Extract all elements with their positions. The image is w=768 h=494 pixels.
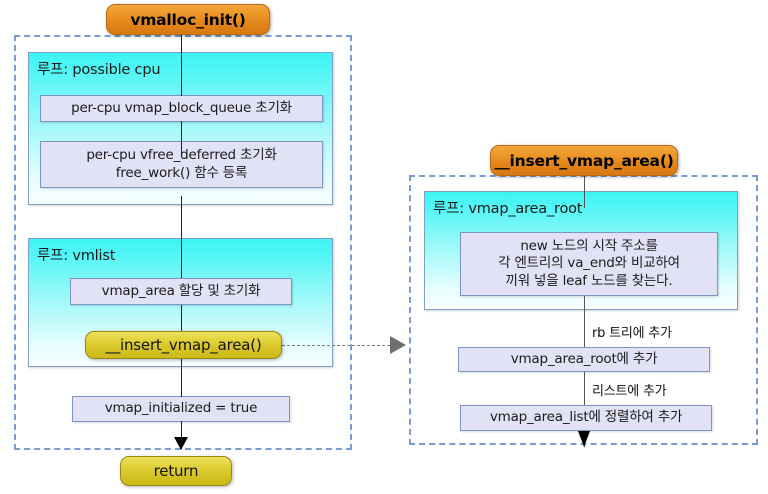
step-vmap-block-queue-init[interactable]: per-cpu vmap_block_queue 초기화 <box>40 95 323 122</box>
left-spine-2 <box>181 121 182 154</box>
step-label: vmap_area_list에 정렬하여 추가 <box>490 409 682 427</box>
right-spine-1 <box>584 176 585 208</box>
left-spine-5 <box>181 357 182 397</box>
step-add-to-vmap-area-root[interactable]: vmap_area_root에 추가 <box>458 347 710 372</box>
loop-vmlist-label: 루프: vmlist <box>37 244 115 265</box>
diagram-canvas: vmalloc_init() 루프: possible cpu per-cpu … <box>0 0 768 494</box>
step-find-leaf-node[interactable]: new 노드의 시작 주소를 각 엔트리의 va_end와 비교하여 끼워 넣을… <box>460 232 718 296</box>
left-spine-arrowhead <box>174 437 188 450</box>
step-vmap-initialized-true[interactable]: vmap_initialized = true <box>72 396 290 422</box>
step-label-line3: 끼워 넣을 leaf 노드를 찾는다. <box>506 273 673 291</box>
step-vmap-area-alloc-init[interactable]: vmap_area 할당 및 초기화 <box>70 278 292 305</box>
step-label: per-cpu vmap_block_queue 초기화 <box>71 100 292 118</box>
return-terminator[interactable]: return <box>120 456 232 486</box>
step-label: vmap_area_root에 추가 <box>511 351 658 369</box>
step-label-line1: new 노드의 시작 주소를 <box>520 238 657 256</box>
edge-label-list: 리스트에 추가 <box>592 380 667 399</box>
left-spine-4 <box>181 305 182 333</box>
left-spine-1 <box>181 35 182 96</box>
loop-vmap-area-root-label: 루프: vmap_area_root <box>433 197 582 218</box>
right-spine-3 <box>584 372 585 405</box>
vmalloc-init-title[interactable]: vmalloc_init() <box>106 4 270 35</box>
edge-label-rb-tree: rb 트리에 추가 <box>592 322 672 341</box>
step-label: vmap_initialized = true <box>105 400 258 418</box>
step-add-to-vmap-area-list[interactable]: vmap_area_list에 정렬하여 추가 <box>460 405 712 431</box>
step-label-line2: 각 엔트리의 va_end와 비교하여 <box>498 255 680 273</box>
right-spine-2 <box>584 296 585 347</box>
call-link-arrowhead <box>390 336 406 354</box>
loop-possible-cpu-label: 루프: possible cpu <box>37 58 160 79</box>
call-link-dashed-line <box>282 345 390 346</box>
right-spine-arrowhead <box>578 431 590 447</box>
left-spine-3 <box>181 196 182 278</box>
call-insert-vmap-area[interactable]: __insert_vmap_area() <box>85 331 282 359</box>
insert-vmap-area-title[interactable]: __insert_vmap_area() <box>490 145 678 176</box>
step-label-line2: free_work() 함수 등록 <box>116 165 247 183</box>
step-label: vmap_area 할당 및 초기화 <box>102 283 261 301</box>
